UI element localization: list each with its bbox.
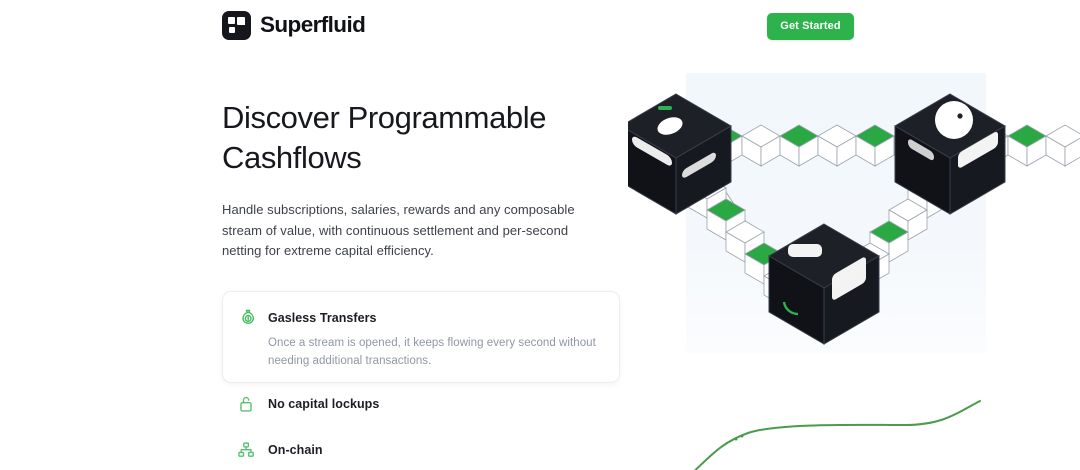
site-header: Superfluid Get Started bbox=[0, 0, 1080, 55]
brand-wordmark: Superfluid bbox=[260, 14, 365, 37]
landing-page: Superfluid Get Started Discover Programm… bbox=[0, 0, 1080, 470]
hero-subtitle: Handle subscriptions, salaries, rewards … bbox=[222, 200, 602, 262]
hero-text-column: Discover Programmable Cashflows Handle s… bbox=[222, 98, 622, 262]
superfluid-logo-mark-icon bbox=[222, 11, 251, 40]
page-title: Discover Programmable Cashflows bbox=[222, 98, 622, 178]
feature-card-title: Gasless Transfers bbox=[268, 311, 377, 325]
feature-card-gasless-transfers[interactable]: Gasless Transfers Once a stream is opene… bbox=[222, 291, 620, 383]
isometric-cube-network-illustration bbox=[628, 66, 1080, 346]
feature-row-label: On-chain bbox=[268, 443, 323, 457]
feature-row-no-capital-lockups[interactable]: No capital lockups bbox=[222, 392, 622, 416]
money-bag-icon bbox=[237, 308, 259, 330]
open-padlock-icon bbox=[235, 393, 257, 415]
sitemap-icon bbox=[235, 439, 257, 461]
feature-row-label: No capital lockups bbox=[268, 397, 379, 411]
flow-curve-graphic bbox=[690, 385, 1080, 470]
feature-row-on-chain[interactable]: On-chain bbox=[222, 438, 622, 462]
brand-logo[interactable]: Superfluid bbox=[222, 10, 365, 40]
get-started-button[interactable]: Get Started bbox=[767, 13, 854, 40]
feature-card-description: Once a stream is opened, it keeps flowin… bbox=[268, 334, 608, 370]
